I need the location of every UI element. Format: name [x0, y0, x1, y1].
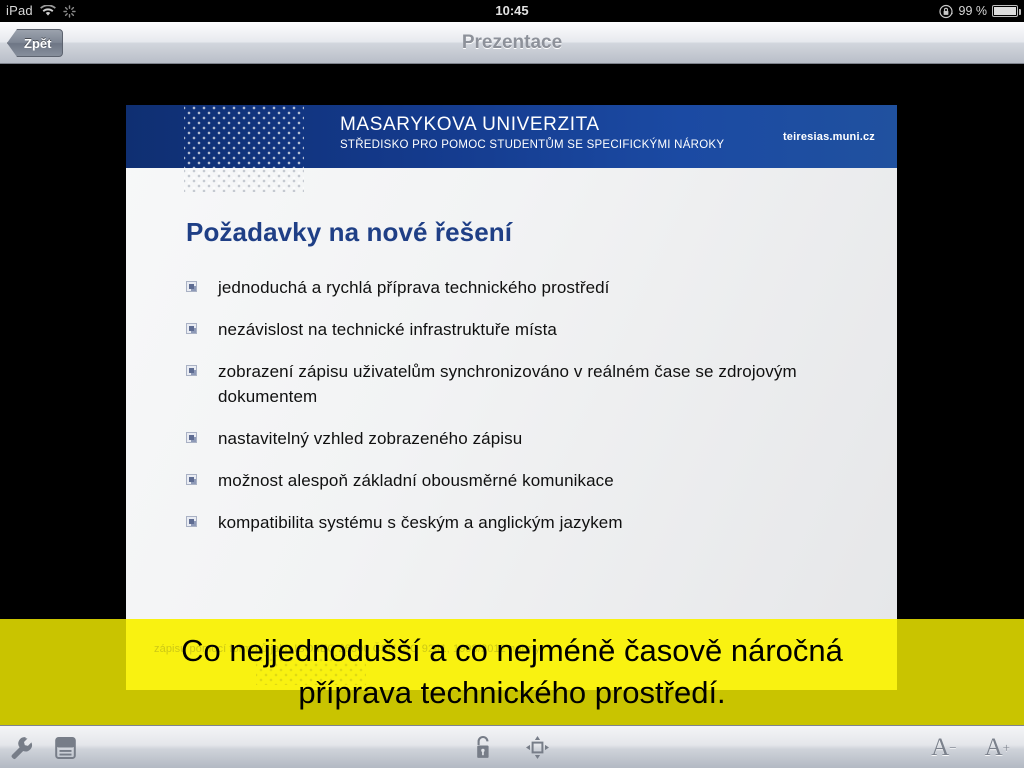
font-increase-label: A — [985, 735, 1003, 760]
fit-to-screen-icon[interactable] — [525, 735, 550, 760]
page-title: Prezentace — [0, 22, 1024, 63]
bullet-text: jednoduchá a rychlá příprava technického… — [218, 275, 610, 300]
battery-icon — [992, 5, 1018, 17]
slide-heading: Požadavky na nové řešení — [186, 217, 512, 248]
bullet-text: kompatibilita systému s českým a anglick… — [218, 510, 623, 535]
bottom-toolbar: A− A+ — [0, 725, 1024, 768]
caption-overlay[interactable]: zápisu pomocí formátů jako ISO/IEC 26300… — [0, 619, 1024, 725]
unlocked-padlock-icon[interactable] — [474, 735, 493, 760]
status-bar-clock: 10:45 — [0, 0, 1024, 22]
university-identity: MASARYKOVA UNIVERZITA STŘEDISKO PRO POMO… — [340, 114, 724, 153]
bullet-marker-icon — [186, 323, 197, 334]
bullet-marker-icon — [186, 281, 197, 292]
bullet-marker-icon — [186, 516, 197, 527]
list-item: zobrazení zápisu uživatelům synchronizov… — [186, 359, 856, 409]
battery-percent-label: 99 % — [959, 0, 988, 22]
bullet-text: zobrazení zápisu uživatelům synchronizov… — [218, 359, 856, 409]
presentation-slide[interactable]: MASARYKOVA UNIVERZITA STŘEDISKO PRO POMO… — [126, 105, 897, 619]
toolbar-center-group — [0, 726, 1024, 768]
toolbar-right-group: A− A+ — [931, 726, 1010, 768]
department-name: STŘEDISKO PRO POMOC STUDENTŮM SE SPECIFI… — [340, 137, 724, 153]
caption-text: Co nejjednodušší a co nejméně časově nár… — [0, 619, 1024, 725]
bullet-text: možnost alespoň základní obousměrné komu… — [218, 468, 614, 493]
slide-stage[interactable]: MASARYKOVA UNIVERZITA STŘEDISKO PRO POMO… — [0, 64, 1024, 619]
bullet-marker-icon — [186, 365, 197, 376]
bullet-marker-icon — [186, 432, 197, 443]
list-item: kompatibilita systému s českým a anglick… — [186, 510, 856, 535]
slide-bullet-list: jednoduchá a rychlá příprava technického… — [186, 275, 856, 552]
rotation-lock-icon — [939, 4, 954, 19]
font-increase-sign: + — [1003, 741, 1010, 754]
font-decrease-label: A — [931, 735, 949, 760]
caption-line-2: příprava technického prostředí. — [298, 672, 725, 714]
list-item: možnost alespoň základní obousměrné komu… — [186, 468, 856, 493]
font-decrease-sign: − — [949, 741, 956, 754]
slide-header-band: MASARYKOVA UNIVERZITA STŘEDISKO PRO POMO… — [126, 105, 897, 168]
ipad-presentation-screen: iPad — [0, 0, 1024, 768]
website-url: teiresias.muni.cz — [783, 131, 875, 143]
font-decrease-button[interactable]: A− — [931, 735, 956, 760]
status-bar-right: 99 % — [939, 0, 1019, 22]
university-name: MASARYKOVA UNIVERZITA — [340, 114, 724, 136]
list-item: nastavitelný vzhled zobrazeného zápisu — [186, 426, 856, 451]
navigation-bar: Zpět Prezentace — [0, 22, 1024, 64]
list-item: jednoduchá a rychlá příprava technického… — [186, 275, 856, 300]
bullet-marker-icon — [186, 474, 197, 485]
font-increase-button[interactable]: A+ — [985, 735, 1010, 760]
caption-line-1: Co nejjednodušší a co nejméně časově nár… — [181, 630, 843, 672]
status-bar: iPad — [0, 0, 1024, 22]
list-item: nezávislost na technické infrastruktuře … — [186, 317, 856, 342]
dot-grid-pattern-lower — [184, 168, 304, 192]
bullet-text: nezávislost na technické infrastruktuře … — [218, 317, 557, 342]
bullet-text: nastavitelný vzhled zobrazeného zápisu — [218, 426, 522, 451]
